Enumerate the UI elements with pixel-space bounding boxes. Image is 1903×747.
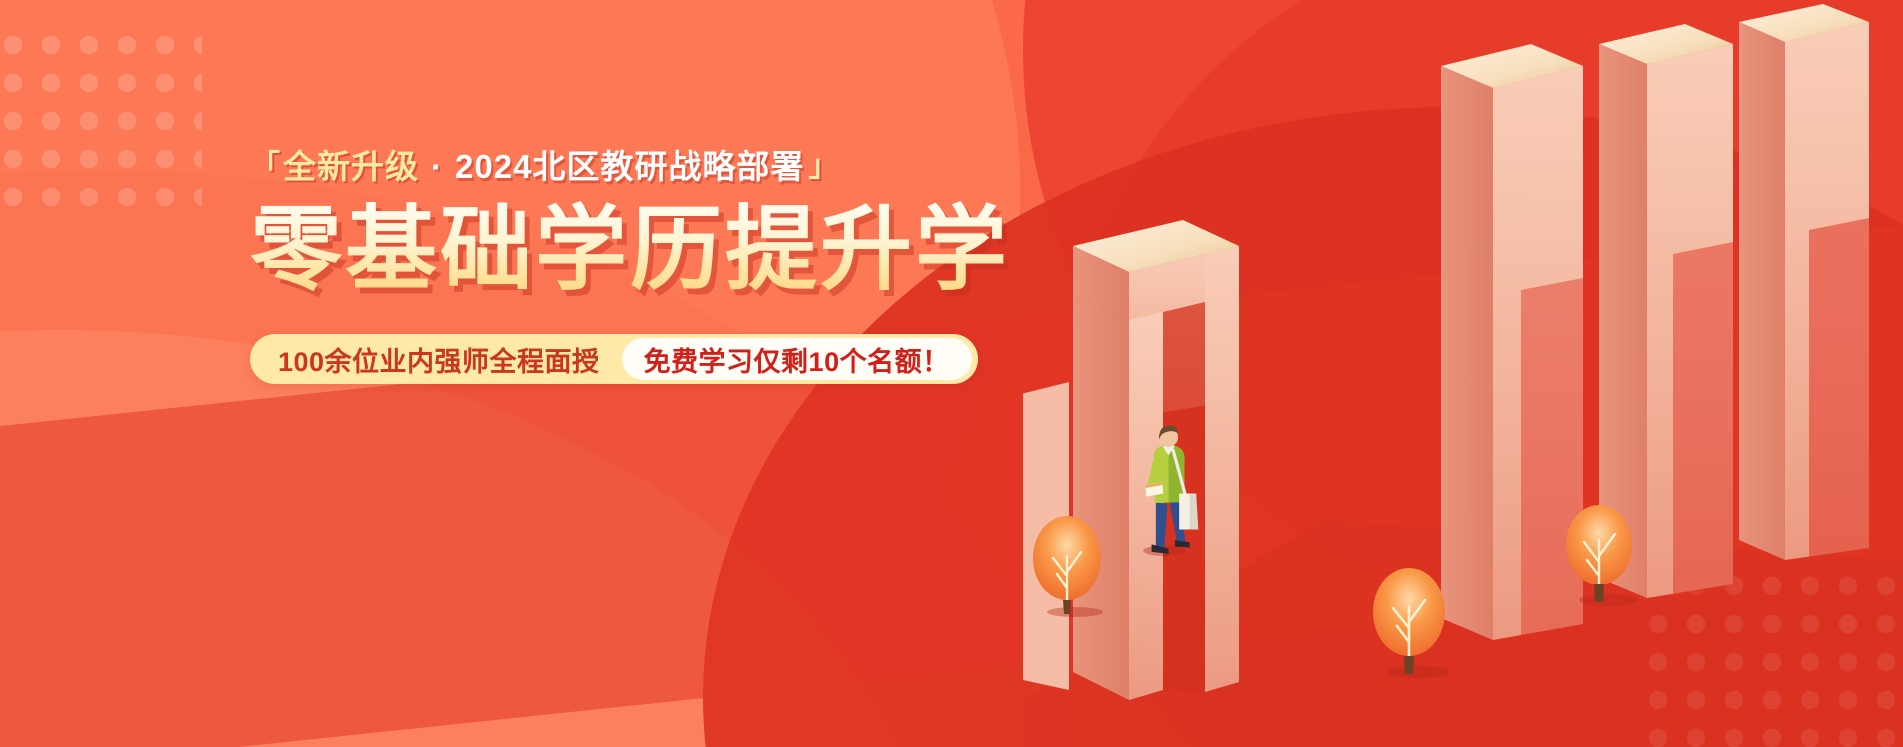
banner-headline: 零基础学历提升学霸班: [250, 201, 1010, 300]
bracket-open-icon: 「: [250, 152, 281, 182]
badge-teachers-label: 100余位业内强师全程面授: [278, 340, 622, 379]
banner-kicker: 「 全新升级 · 2024北区教研战略部署 」: [250, 150, 1010, 183]
banner-badge-group[interactable]: 100余位业内强师全程面授 免费学习仅剩10个名额！: [250, 334, 978, 384]
banner-text-block: 「 全新升级 · 2024北区教研战略部署 」 零基础学历提升学霸班 100余位…: [250, 150, 1010, 384]
promo-banner: 「 全新升级 · 2024北区教研战略部署 」 零基础学历提升学霸班 100余位…: [0, 0, 1903, 747]
book-arch-illustration: [1023, 0, 1903, 747]
kicker-gold-text: 全新升级: [283, 150, 419, 183]
badge-seats-remaining[interactable]: 免费学习仅剩10个名额！: [622, 338, 972, 380]
bracket-close-icon: 」: [808, 152, 839, 182]
kicker-white-text: 2024北区教研战略部署: [455, 150, 804, 183]
kicker-separator-icon: ·: [431, 150, 443, 183]
